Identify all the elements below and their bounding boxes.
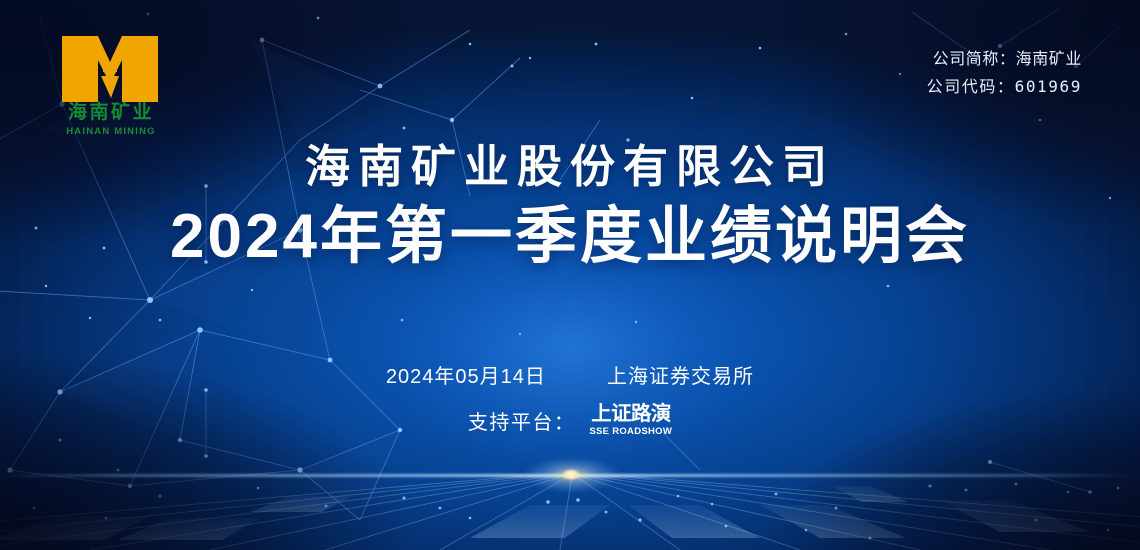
event-meta: 2024年05月14日 上海证券交易所 (0, 360, 1140, 389)
support-platform-row: 支持平台： 上证路演 SSE ROADSHOW (0, 404, 1140, 436)
page-title: 海南矿业股份有限公司 2024年第一季度业绩说明会 (0, 138, 1140, 276)
event-venue: 上海证券交易所 (607, 366, 754, 388)
lens-flare-core (562, 470, 580, 479)
sse-roadshow-chinese: 上证路演 (591, 404, 671, 424)
hainan-mining-m-monogram-icon (62, 36, 158, 102)
company-stock-code: 公司代码：601969 (927, 73, 1082, 100)
logo-english-name: HAINAN MINING (52, 126, 170, 137)
event-date: 2024年05月14日 (386, 366, 546, 388)
company-logo: 海南矿业 HAINAN MINING (52, 36, 170, 144)
company-abbreviation: 公司简称：海南矿业 (927, 46, 1082, 73)
sse-roadshow-english: SSE ROADSHOW (589, 427, 672, 437)
sse-roadshow-logo: 上证路演 SSE ROADSHOW (589, 404, 672, 436)
title-line-event: 2024年第一季度业绩说明会 (0, 198, 1140, 276)
company-info: 公司简称：海南矿业 公司代码：601969 (927, 46, 1082, 100)
logo-chinese-name: 海南矿业 (52, 102, 170, 124)
earnings-briefing-banner: 海南矿业 HAINAN MINING 公司简称：海南矿业 公司代码：601969… (0, 0, 1140, 550)
title-line-company: 海南矿业股份有限公司 (0, 138, 1140, 196)
support-platform-label: 支持平台： (468, 406, 576, 435)
